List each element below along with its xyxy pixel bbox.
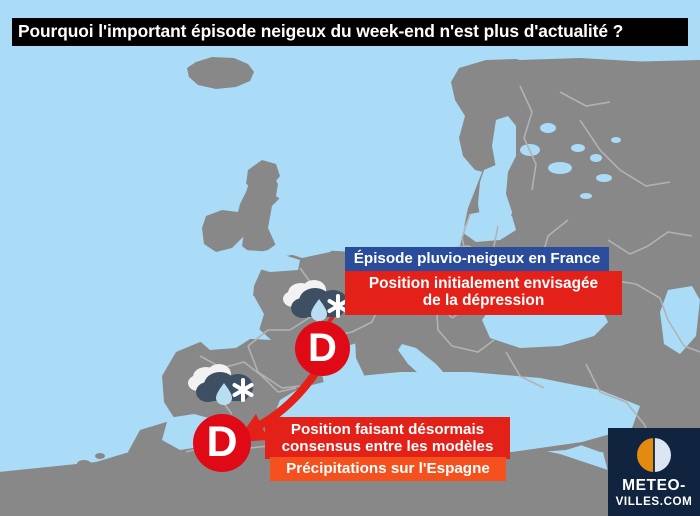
label-episode-pluvio-neigeux: Épisode pluvio-neigeux en France — [345, 247, 609, 271]
logo-line-2: VILLES.COM — [616, 496, 693, 508]
logo-line-1: METEO- — [622, 478, 686, 494]
label-precipitations-espagne: Précipitations sur l'Espagne — [270, 457, 506, 481]
page-title: Pourquoi l'important épisode neigeux du … — [18, 23, 623, 40]
depression-marker-letter: D — [308, 328, 337, 368]
headline-banner: Pourquoi l'important épisode neigeux du … — [12, 18, 688, 46]
label-position-initiale: Position initialement envisagée de la dé… — [345, 271, 622, 315]
sun-moon-split-icon — [635, 436, 673, 474]
meteo-villes-logo[interactable]: METEO- VILLES.COM — [608, 428, 700, 516]
depression-marker-initial: D — [295, 321, 350, 376]
weather-map-graphic: Pourquoi l'important épisode neigeux du … — [0, 0, 700, 516]
depression-marker-letter: D — [206, 421, 237, 464]
label-position-consensus: Position faisant désormais consensus ent… — [265, 417, 510, 459]
depression-marker-consensus: D — [193, 414, 251, 472]
cloud-rain-snow-icon — [186, 361, 264, 417]
